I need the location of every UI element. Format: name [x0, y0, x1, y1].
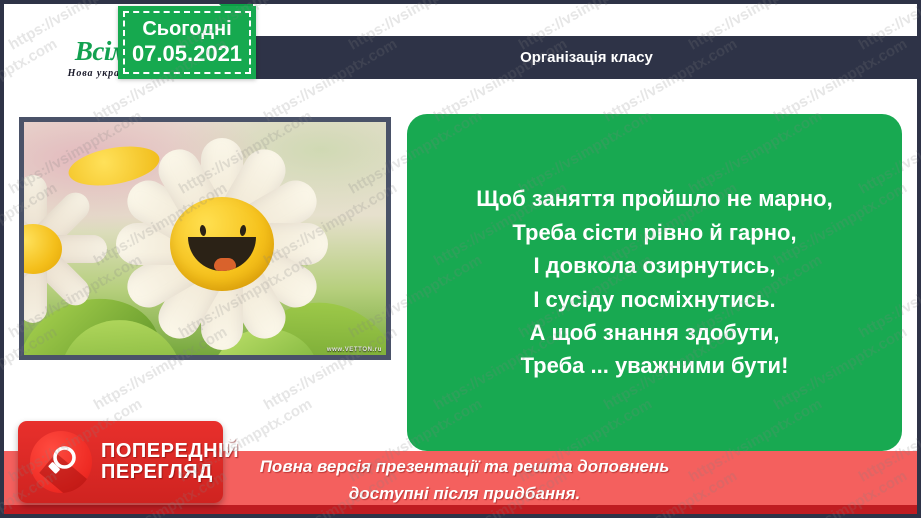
smile-icon	[188, 237, 256, 271]
poem-line: І сусіду посміхнутись.	[533, 283, 775, 316]
image-source-watermark: www.VETTON.ru	[327, 347, 382, 353]
poem-panel: Щоб заняття пройшло не марно, Треба сіст…	[407, 114, 902, 451]
poem-line: Треба сісти рівно й гарно,	[512, 216, 796, 249]
eye-icon	[199, 225, 206, 237]
eye-icon	[239, 225, 246, 237]
preview-line-2: ПЕРЕГЛЯД	[101, 462, 239, 483]
today-date-badge: Сьогодні 07.05.2021	[118, 6, 256, 79]
page-title: Організація класу	[520, 49, 653, 66]
slide-header-bar: Організація класу	[256, 36, 917, 79]
today-date: 07.05.2021	[132, 41, 242, 66]
poem-line: Щоб заняття пройшло не марно,	[476, 182, 832, 215]
banner-line-2: доступні після придбання.	[349, 483, 580, 506]
flower-image: www.VETTON.ru	[19, 117, 391, 360]
slide-canvas: www.VETTON.ru Щоб заняття пройшло не мар…	[0, 0, 921, 518]
daisy-face	[170, 197, 274, 291]
poem-line: І довкола озирнутись,	[533, 249, 775, 282]
side-daisy	[19, 174, 108, 324]
preview-label: ПОПЕРЕДНІЙ ПЕРЕГЛЯД	[101, 441, 239, 483]
flower-illustration: www.VETTON.ru	[24, 122, 386, 355]
poem-line: Треба ... уважними бути!	[521, 349, 789, 382]
preview-badge[interactable]: ПОПЕРЕДНІЙ ПЕРЕГЛЯД	[18, 421, 223, 503]
slide-surface: www.VETTON.ru Щоб заняття пройшло не мар…	[4, 4, 917, 514]
poem-line: А щоб знання здобути,	[530, 316, 780, 349]
banner-line-1: Повна версія презентації та решта доповн…	[260, 456, 670, 479]
today-label: Сьогодні	[142, 18, 231, 41]
smiling-daisy	[106, 128, 338, 360]
magnifier-icon	[30, 431, 92, 493]
preview-line-1: ПОПЕРЕДНІЙ	[101, 441, 239, 462]
